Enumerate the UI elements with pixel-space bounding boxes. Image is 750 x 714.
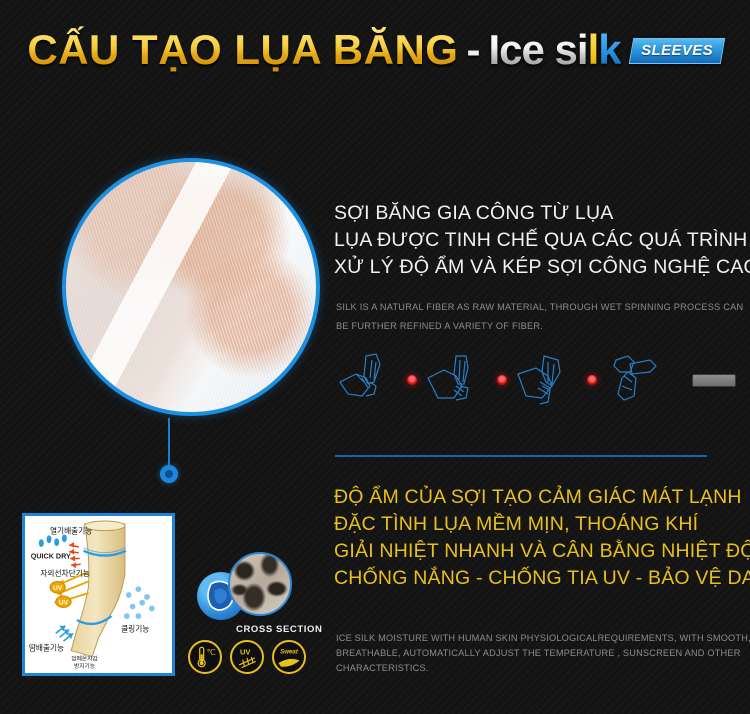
section1-vn-line-1: SỢI BĂNG GIA CÔNG TỪ LỤA bbox=[334, 200, 734, 227]
svg-text:UV: UV bbox=[240, 647, 250, 656]
process-end-bar bbox=[692, 374, 736, 387]
section2-en-text: ICE SILK MOISTURE WITH HUMAN SKIN PHYSIO… bbox=[336, 631, 732, 676]
section2-en-line-1: ICE SILK MOISTURE WITH HUMAN SKIN PHYSIO… bbox=[336, 631, 732, 646]
section1-en-line-2: BE FURTHER REFINED A VARIETY OF FIBER. bbox=[336, 317, 716, 336]
section2-vn-line-2: ĐẶC TÌNH LỤA MỀM MỊN, THOÁNG KHÍ bbox=[334, 511, 744, 538]
cross-section-micrograph bbox=[228, 552, 292, 616]
section1-en-text: SILK IS A NATURAL FIBER AS RAW MATERIAL,… bbox=[336, 298, 716, 336]
svg-text:방지기능: 방지기능 bbox=[74, 662, 95, 670]
section2-en-line-2: BREATHABLE, AUTOMATICALLY ADJUST THE TEM… bbox=[336, 646, 732, 661]
process-dot-2 bbox=[497, 375, 507, 385]
svg-text:열기배출기능: 열기배출기능 bbox=[50, 525, 92, 535]
svg-text:℃: ℃ bbox=[207, 648, 216, 657]
sleeves-badge: SLEEVES bbox=[628, 38, 725, 64]
svg-text:UV: UV bbox=[59, 600, 69, 607]
section1-vn-text: SỢI BĂNG GIA CÔNG TỪ LỤA LỤA ĐƯỢC TINH C… bbox=[334, 200, 734, 281]
thermometer-badge: ℃ bbox=[188, 640, 222, 674]
sleeve-function-diagram: UV UV 열기배출기능 QUICK DRY 자외선차단기능 땀배출기능 쿨링기… bbox=[22, 513, 175, 676]
sweat-badge: Sweat bbox=[272, 640, 306, 674]
sleeves-badge-label: SLEEVES bbox=[641, 42, 713, 59]
section1-en-line-1: SILK IS A NATURAL FIBER AS RAW MATERIAL,… bbox=[336, 298, 716, 317]
ice-silk-logo: Ice silk bbox=[488, 26, 620, 74]
process-dot-1 bbox=[407, 375, 417, 385]
title-row: CẤU TẠO LỤA BĂNG - Ice silk SLEEVES bbox=[0, 26, 750, 74]
section2-vn-line-3: GIẢI NHIỆT NHANH VÀ CÂN BẰNG NHIỆT ĐỘ CƠ… bbox=[334, 538, 744, 565]
page-title-vn: CẤU TẠO LỤA BĂNG bbox=[27, 26, 458, 74]
uv-badge: UV bbox=[230, 640, 264, 674]
cross-section-label: CROSS SECTION bbox=[236, 624, 322, 635]
process-dot-3 bbox=[587, 375, 597, 385]
svg-text:Sweat: Sweat bbox=[280, 648, 299, 655]
fabric-macro-photo bbox=[62, 158, 320, 416]
title-separator: - bbox=[466, 26, 480, 74]
silk-arm-step-4-icon bbox=[606, 352, 668, 408]
section2-en-line-3: CHARACTERISTICS. bbox=[336, 661, 732, 676]
svg-text:UV: UV bbox=[53, 585, 63, 592]
svg-text:땀배출기능: 땀배출기능 bbox=[29, 643, 64, 653]
cross-section-group: CROSS SECTION bbox=[197, 548, 319, 644]
silk-arm-step-3-icon bbox=[516, 352, 578, 408]
page-header: CẤU TẠO LỤA BĂNG - Ice silk SLEEVES bbox=[0, 26, 750, 94]
logo-text-silver: Ice si bbox=[488, 26, 587, 73]
silk-arm-step-1-icon bbox=[336, 352, 398, 408]
svg-text:암페온자감: 암페온자감 bbox=[71, 654, 98, 662]
logo-text-blue: k bbox=[598, 26, 620, 73]
feature-badges: ℃ UV Sweat bbox=[188, 640, 306, 674]
leader-line bbox=[168, 418, 170, 470]
logo-text-gold: l bbox=[588, 26, 599, 73]
svg-text:QUICK DRY: QUICK DRY bbox=[31, 551, 71, 560]
section-divider bbox=[335, 455, 707, 457]
silk-arm-step-2-icon bbox=[426, 352, 488, 408]
section1-vn-line-3: XỬ LÝ ĐỘ ẨM VÀ KÉP SỢI CÔNG NGHỆ CAO bbox=[334, 254, 734, 281]
svg-text:자외선차단기능: 자외선차단기능 bbox=[40, 568, 89, 578]
process-steps-row bbox=[336, 352, 736, 408]
section2-vn-line-4: CHỐNG NẮNG - CHỐNG TIA UV - BẢO VỆ DA bbox=[334, 565, 744, 592]
section2-vn-text: ĐỘ ẨM CỦA SỢI TẠO CẢM GIÁC MÁT LẠNH ĐẶC … bbox=[334, 484, 744, 592]
section2-vn-line-1: ĐỘ ẨM CỦA SỢI TẠO CẢM GIÁC MÁT LẠNH bbox=[334, 484, 744, 511]
leader-dot bbox=[160, 465, 178, 483]
svg-text:쿨링기능: 쿨링기능 bbox=[121, 623, 149, 633]
section1-vn-line-2: LỤA ĐƯỢC TINH CHẾ QUA CÁC QUÁ TRÌNH bbox=[334, 227, 734, 254]
